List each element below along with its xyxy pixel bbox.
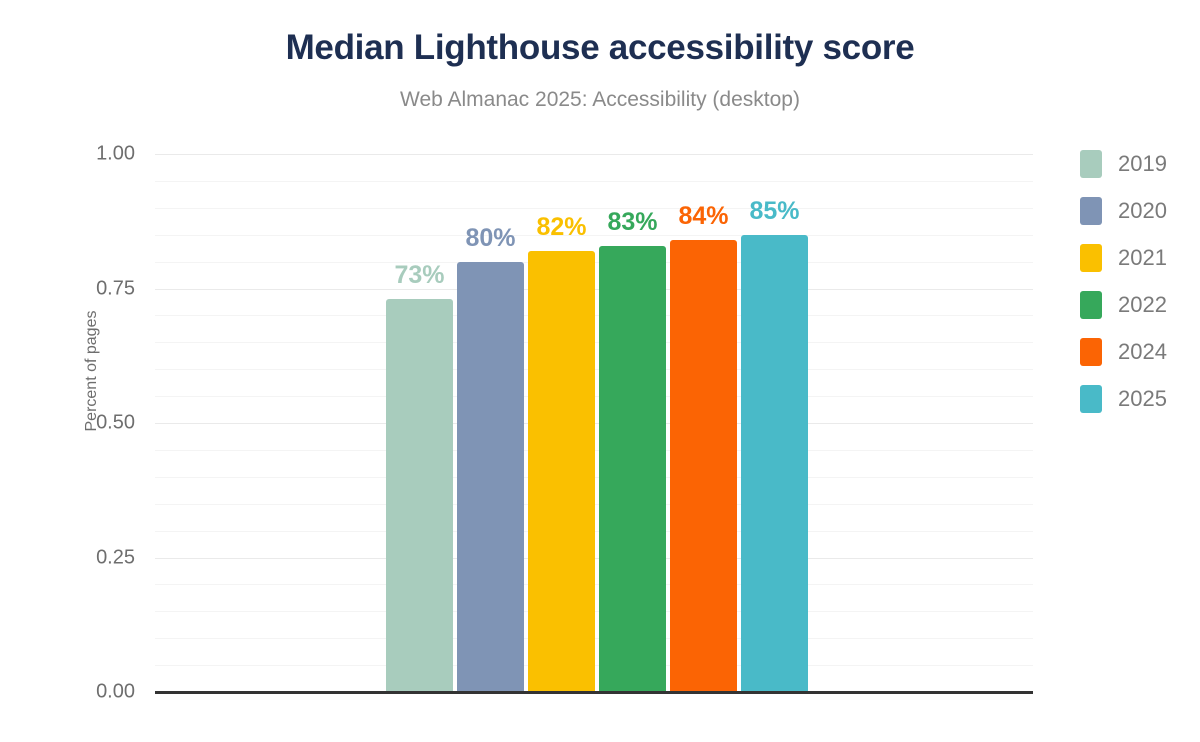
legend-label: 2024 xyxy=(1118,339,1167,365)
bar-2022[interactable] xyxy=(599,246,666,693)
bar-2025[interactable] xyxy=(741,235,808,692)
bar-value-label-2019: 73% xyxy=(394,261,444,290)
chart-figure: Median Lighthouse accessibility score We… xyxy=(0,0,1200,742)
y-axis-tick-label: 0.25 xyxy=(96,546,135,569)
legend-item-2021[interactable]: 2021 xyxy=(1080,234,1200,281)
legend-item-2024[interactable]: 2024 xyxy=(1080,328,1200,375)
gridline-minor xyxy=(155,181,1033,182)
legend-swatch-icon xyxy=(1080,244,1102,272)
bar-value-label-2025: 85% xyxy=(749,197,799,226)
legend-swatch-icon xyxy=(1080,150,1102,178)
legend-label: 2019 xyxy=(1118,151,1167,177)
legend-item-2020[interactable]: 2020 xyxy=(1080,187,1200,234)
legend-label: 2025 xyxy=(1118,386,1167,412)
y-axis-tick-labels: 0.000.250.500.751.00 xyxy=(0,0,145,742)
gridline-minor xyxy=(155,235,1033,236)
x-axis-line xyxy=(155,691,1033,694)
legend: 201920202021202220242025 xyxy=(1080,140,1200,422)
legend-label: 2021 xyxy=(1118,245,1167,271)
legend-swatch-icon xyxy=(1080,291,1102,319)
legend-swatch-icon xyxy=(1080,197,1102,225)
gridline-minor xyxy=(155,208,1033,209)
legend-swatch-icon xyxy=(1080,385,1102,413)
bar-2020[interactable] xyxy=(457,262,524,692)
y-axis-tick-label: 1.00 xyxy=(96,143,135,166)
y-axis-title: Percent of pages xyxy=(83,271,101,471)
chart-title: Median Lighthouse accessibility score xyxy=(0,28,1200,68)
gridline-major xyxy=(155,154,1033,155)
legend-item-2025[interactable]: 2025 xyxy=(1080,375,1200,422)
legend-item-2022[interactable]: 2022 xyxy=(1080,281,1200,328)
bar-value-label-2024: 84% xyxy=(678,202,728,231)
legend-label: 2022 xyxy=(1118,292,1167,318)
bar-value-label-2020: 80% xyxy=(465,224,515,253)
bar-value-label-2021: 82% xyxy=(536,213,586,242)
legend-label: 2020 xyxy=(1118,198,1167,224)
chart-subtitle: Web Almanac 2025: Accessibility (desktop… xyxy=(0,88,1200,112)
bar-value-label-2022: 83% xyxy=(607,208,657,237)
y-axis-tick-label: 0.00 xyxy=(96,681,135,704)
y-axis-tick-label: 0.75 xyxy=(96,277,135,300)
plot-area: 73%80%82%83%84%85% xyxy=(155,154,1033,692)
bar-2024[interactable] xyxy=(670,240,737,692)
legend-item-2019[interactable]: 2019 xyxy=(1080,140,1200,187)
bar-2019[interactable] xyxy=(386,299,453,692)
bar-2021[interactable] xyxy=(528,251,595,692)
legend-swatch-icon xyxy=(1080,338,1102,366)
y-axis-tick-label: 0.50 xyxy=(96,412,135,435)
